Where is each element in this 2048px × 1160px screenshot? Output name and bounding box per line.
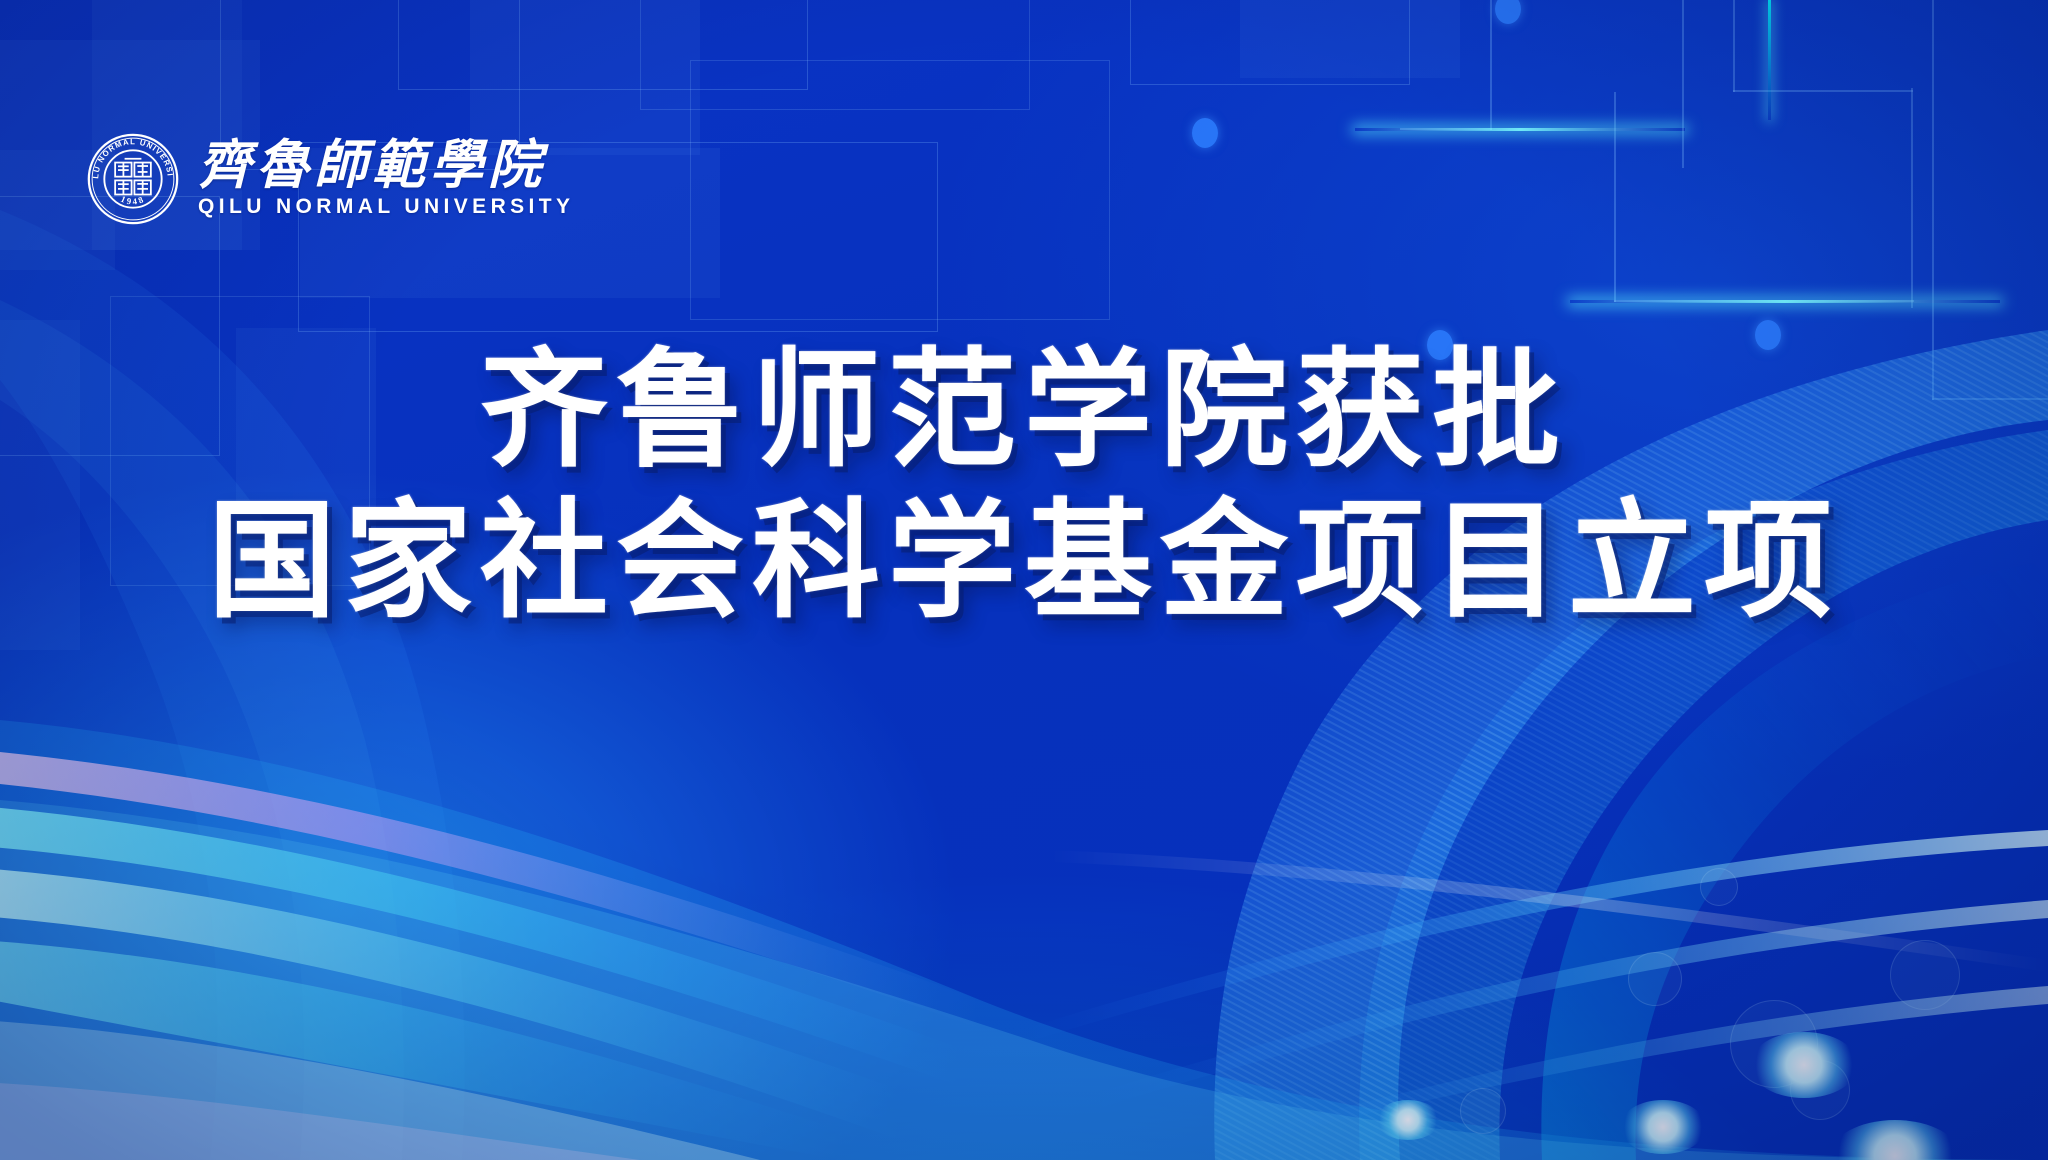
logo-name-en: QILU NORMAL UNIVERSITY	[198, 195, 574, 219]
svg-text:1948: 1948	[119, 194, 146, 207]
logo-wordmark: 齊魯師範學院 QILU NORMAL UNIVERSITY	[198, 139, 574, 219]
logo-name-cn: 齊魯師範學院	[198, 139, 574, 193]
university-logo: QILU NORMAL UNIVERSITY 1948	[86, 132, 574, 226]
university-seal-icon: QILU NORMAL UNIVERSITY 1948	[86, 132, 180, 226]
banner-canvas: QILU NORMAL UNIVERSITY 1948	[0, 0, 2048, 1160]
